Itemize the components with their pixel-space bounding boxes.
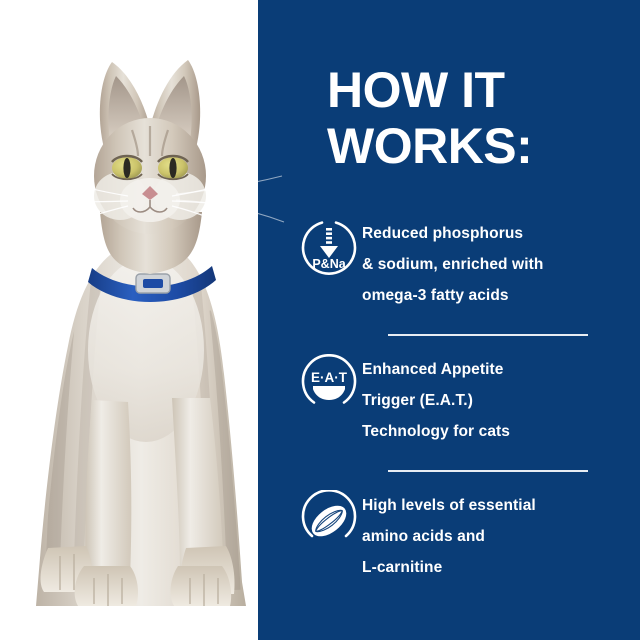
reduced-phosphorus-sodium-icon: P&Na bbox=[300, 218, 358, 276]
muscle-amino-acid-icon bbox=[300, 490, 358, 548]
divider bbox=[388, 470, 588, 472]
feature-row: E·A·T Enhanced Appetite Trigger (E.A.T.)… bbox=[296, 350, 616, 447]
cat-photo bbox=[0, 0, 300, 640]
divider bbox=[388, 334, 588, 336]
feature-row: High levels of essential amino acids and… bbox=[296, 486, 616, 583]
feature-text: Reduced phosphorus & sodium, enriched wi… bbox=[362, 214, 543, 311]
eat-technology-icon: E·A·T bbox=[300, 354, 358, 412]
feature-text: Enhanced Appetite Trigger (E.A.T.) Techn… bbox=[362, 350, 510, 447]
icon-container: E·A·T bbox=[296, 350, 362, 412]
svg-text:E·A·T: E·A·T bbox=[311, 370, 348, 385]
svg-text:P&Na: P&Na bbox=[312, 257, 346, 271]
icon-container: P&Na bbox=[296, 214, 362, 276]
icon-container bbox=[296, 486, 362, 548]
feature-text: High levels of essential amino acids and… bbox=[362, 486, 536, 583]
feature-row: P&Na Reduced phosphorus & sodium, enrich… bbox=[296, 214, 616, 311]
promo-panel: HOW IT WORKS: P&Na Reduced phosphorus & … bbox=[0, 0, 640, 640]
page-title: HOW IT WORKS: bbox=[327, 62, 627, 174]
